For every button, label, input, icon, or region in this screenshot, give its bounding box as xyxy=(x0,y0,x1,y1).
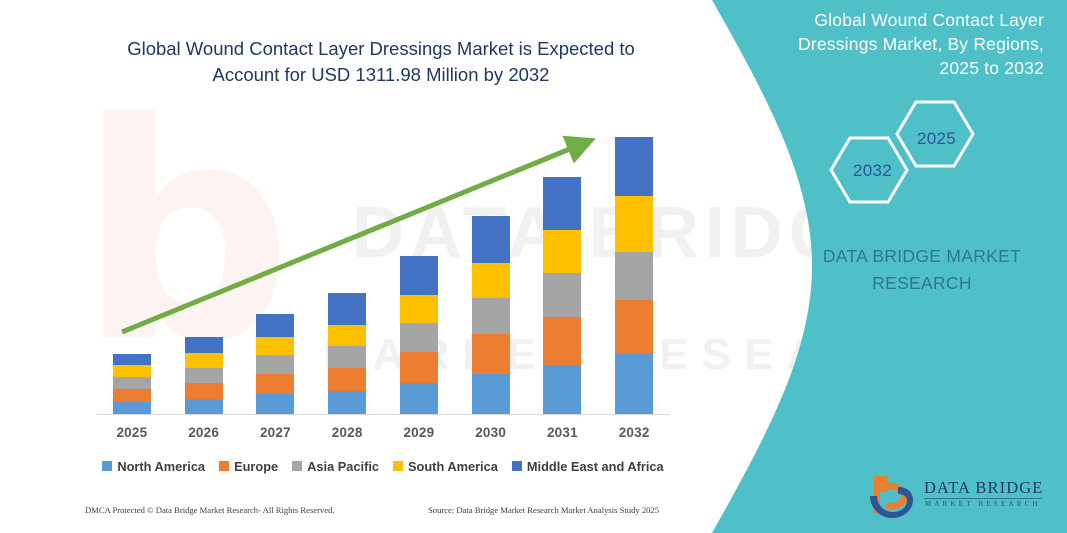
legend-item[interactable]: Middle East and Africa xyxy=(512,459,664,474)
x-label-2027: 2027 xyxy=(239,425,311,440)
legend-swatch-icon xyxy=(219,461,229,471)
legend-label: Asia Pacific xyxy=(307,459,379,474)
legend-item[interactable]: North America xyxy=(102,459,205,474)
x-label-2030: 2030 xyxy=(455,425,527,440)
x-axis-labels: 20252026202720282029203020312032 xyxy=(96,425,670,445)
legend-item[interactable]: Europe xyxy=(219,459,278,474)
panel-title: Global Wound Contact Layer Dressings Mar… xyxy=(772,8,1044,80)
page-title: Global Wound Contact Layer Dressings Mar… xyxy=(96,36,666,88)
x-label-2028: 2028 xyxy=(311,425,383,440)
legend-label: North America xyxy=(117,459,205,474)
footer-source: Source: Data Bridge Market Research Mark… xyxy=(428,505,659,515)
hexagon-label-start: 2025 xyxy=(917,129,956,149)
brand-name: DATA BRIDGE MARKET RESEARCH xyxy=(800,243,1044,297)
legend-swatch-icon xyxy=(512,461,522,471)
x-label-2025: 2025 xyxy=(96,425,168,440)
data-bridge-logo: DATA BRIDGE MARKET RESEARCH xyxy=(866,474,1046,522)
logo-subtitle: MARKET RESEARCH xyxy=(925,500,1041,508)
legend-label: South America xyxy=(408,459,498,474)
footer-copyright: DMCA Protected © Data Bridge Market Rese… xyxy=(85,505,335,515)
chart-legend: North AmericaEuropeAsia PacificSouth Ame… xyxy=(96,455,670,477)
legend-item[interactable]: Asia Pacific xyxy=(292,459,379,474)
legend-label: Europe xyxy=(234,459,278,474)
legend-swatch-icon xyxy=(102,461,112,471)
footer: DMCA Protected © Data Bridge Market Rese… xyxy=(0,505,690,525)
x-label-2031: 2031 xyxy=(526,425,598,440)
legend-label: Middle East and Africa xyxy=(527,459,664,474)
x-label-2026: 2026 xyxy=(168,425,240,440)
logo-mark-icon xyxy=(866,474,920,522)
legend-item[interactable]: South America xyxy=(393,459,498,474)
logo-title: DATA BRIDGE xyxy=(924,478,1043,498)
hexagon-label-end: 2032 xyxy=(853,161,892,181)
x-label-2029: 2029 xyxy=(383,425,455,440)
hexagon-group: 2025 2032 xyxy=(820,98,1000,210)
trend-arrow-icon xyxy=(96,110,670,415)
legend-swatch-icon xyxy=(393,461,403,471)
x-label-2032: 2032 xyxy=(598,425,670,440)
legend-swatch-icon xyxy=(292,461,302,471)
logo-divider xyxy=(924,498,1042,499)
slide-canvas: b DATA BRIDGE MARKET RESEARCH Global Wou… xyxy=(0,0,1067,533)
